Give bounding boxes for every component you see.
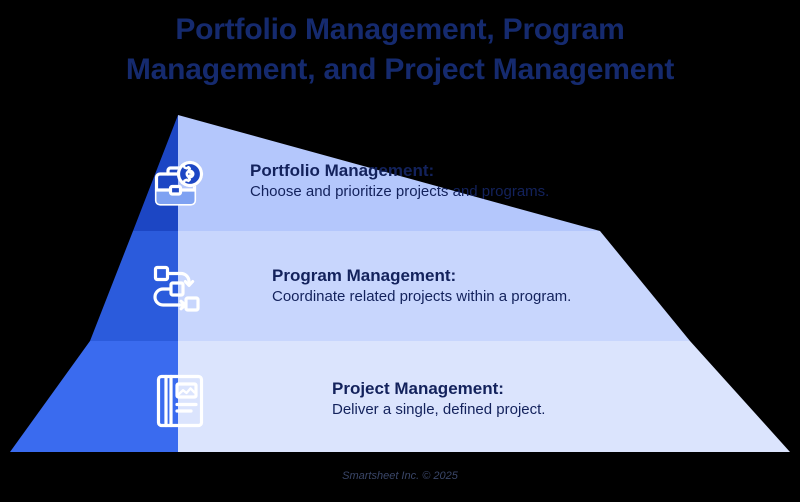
pyramid-level-portfolio-right-face — [178, 115, 600, 231]
pyramid-level-program-right-face — [178, 231, 690, 341]
pyramid-diagram — [0, 0, 800, 502]
pyramid-level-project-left-face — [10, 341, 178, 452]
footer-credit: Smartsheet Inc. © 2025 — [0, 470, 800, 482]
pyramid-level-project-right-face — [178, 341, 790, 452]
pyramid-level-program-left-face — [90, 231, 178, 341]
